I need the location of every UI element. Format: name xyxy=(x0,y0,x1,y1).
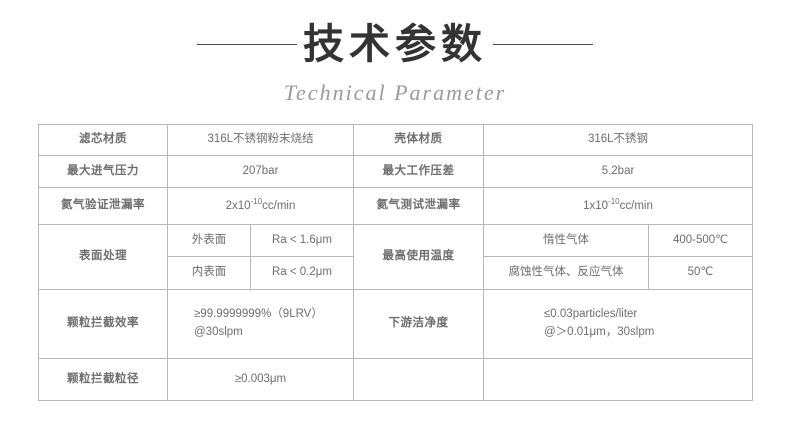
sub-label-outer-surface: 外表面 xyxy=(168,225,251,257)
row-value-filter-material: 316L不锈钢粉末烧结 xyxy=(168,125,354,156)
row-value-housing-material: 316L不锈钢 xyxy=(484,125,753,156)
downstream-cleanliness-line-2: @＞0.01μm，30slpm xyxy=(488,324,748,342)
page-subtitle: Technical Parameter xyxy=(0,80,790,106)
table-row: 颗粒拦截粒径 ≥0.003μm xyxy=(39,359,753,401)
page-header: 技术参数 Technical Parameter xyxy=(0,0,790,106)
row-value-helium-test-leak-rate: 1x10-10cc/min xyxy=(484,188,753,225)
row-label-downstream-cleanliness: 下游洁净度 xyxy=(354,290,484,359)
sub-label-inner-surface: 内表面 xyxy=(168,257,251,290)
sub-label-inert-gas: 惰性气体 xyxy=(484,225,649,257)
title-row: 技术参数 xyxy=(0,18,790,70)
row-label-helium-verification-leak-rate: 氦气验证泄漏率 xyxy=(39,188,168,225)
table-row: 表面处理 外表面 Ra < 1.6μm 最高使用温度 惰性气体 400-500℃ xyxy=(39,225,753,257)
downstream-cleanliness-line-1: ≤0.03particles/liter xyxy=(488,306,748,324)
leak-rate-base-left: 2x10 xyxy=(226,200,251,212)
row-value-particle-retention-size: ≥0.003μm xyxy=(168,359,354,401)
row-value-downstream-cleanliness: ≤0.03particles/liter @＞0.01μm，30slpm xyxy=(484,290,753,359)
particle-efficiency-line-2: @30slpm xyxy=(172,324,349,342)
sub-value-corrosive-gas-temperature: 50℃ xyxy=(649,257,753,290)
table-row: 颗粒拦截效率 ≥99.9999999%（9LRV） @30slpm 下游洁净度 … xyxy=(39,290,753,359)
row-label-filter-material: 滤芯材质 xyxy=(39,125,168,156)
row-label-empty xyxy=(354,359,484,401)
sub-value-inner-surface: Ra < 0.2μm xyxy=(251,257,354,290)
row-label-surface-treatment: 表面处理 xyxy=(39,225,168,290)
sub-label-corrosive-reactive-gas: 腐蚀性气体、反应气体 xyxy=(484,257,649,290)
table-row: 最大进气压力 207bar 最大工作压差 5.2bar xyxy=(39,156,753,188)
row-label-particle-retention-efficiency: 颗粒拦截效率 xyxy=(39,290,168,359)
leak-rate-exponent-right: -10 xyxy=(608,197,620,206)
row-value-empty xyxy=(484,359,753,401)
row-label-max-working-pressure-diff: 最大工作压差 xyxy=(354,156,484,188)
sub-value-outer-surface: Ra < 1.6μm xyxy=(251,225,354,257)
row-label-particle-retention-size: 颗粒拦截粒径 xyxy=(39,359,168,401)
title-decoration-line-right xyxy=(493,44,593,45)
spec-table-wrapper: 滤芯材质 316L不锈钢粉末烧结 壳体材质 316L不锈钢 最大进气压力 207… xyxy=(38,124,752,401)
row-label-max-inlet-pressure: 最大进气压力 xyxy=(39,156,168,188)
row-label-max-operating-temperature: 最高使用温度 xyxy=(354,225,484,290)
leak-rate-base-right: 1x10 xyxy=(583,200,608,212)
table-row: 氦气验证泄漏率 2x10-10cc/min 氦气测试泄漏率 1x10-10cc/… xyxy=(39,188,753,225)
title-decoration-line-left xyxy=(197,44,297,45)
table-row: 滤芯材质 316L不锈钢粉末烧结 壳体材质 316L不锈钢 xyxy=(39,125,753,156)
row-label-housing-material: 壳体材质 xyxy=(354,125,484,156)
sub-value-inert-gas-temperature: 400-500℃ xyxy=(649,225,753,257)
particle-efficiency-line-1: ≥99.9999999%（9LRV） xyxy=(172,306,349,324)
row-value-max-inlet-pressure: 207bar xyxy=(168,156,354,188)
page-title: 技术参数 xyxy=(303,19,487,69)
row-value-helium-verification-leak-rate: 2x10-10cc/min xyxy=(168,188,354,225)
row-label-helium-test-leak-rate: 氦气测试泄漏率 xyxy=(354,188,484,225)
leak-rate-exponent-left: -10 xyxy=(251,197,263,206)
row-value-max-working-pressure-diff: 5.2bar xyxy=(484,156,753,188)
leak-rate-unit-left: cc/min xyxy=(262,200,295,212)
spec-table: 滤芯材质 316L不锈钢粉末烧结 壳体材质 316L不锈钢 最大进气压力 207… xyxy=(38,124,753,401)
leak-rate-unit-right: cc/min xyxy=(620,200,653,212)
row-value-particle-retention-efficiency: ≥99.9999999%（9LRV） @30slpm xyxy=(168,290,354,359)
